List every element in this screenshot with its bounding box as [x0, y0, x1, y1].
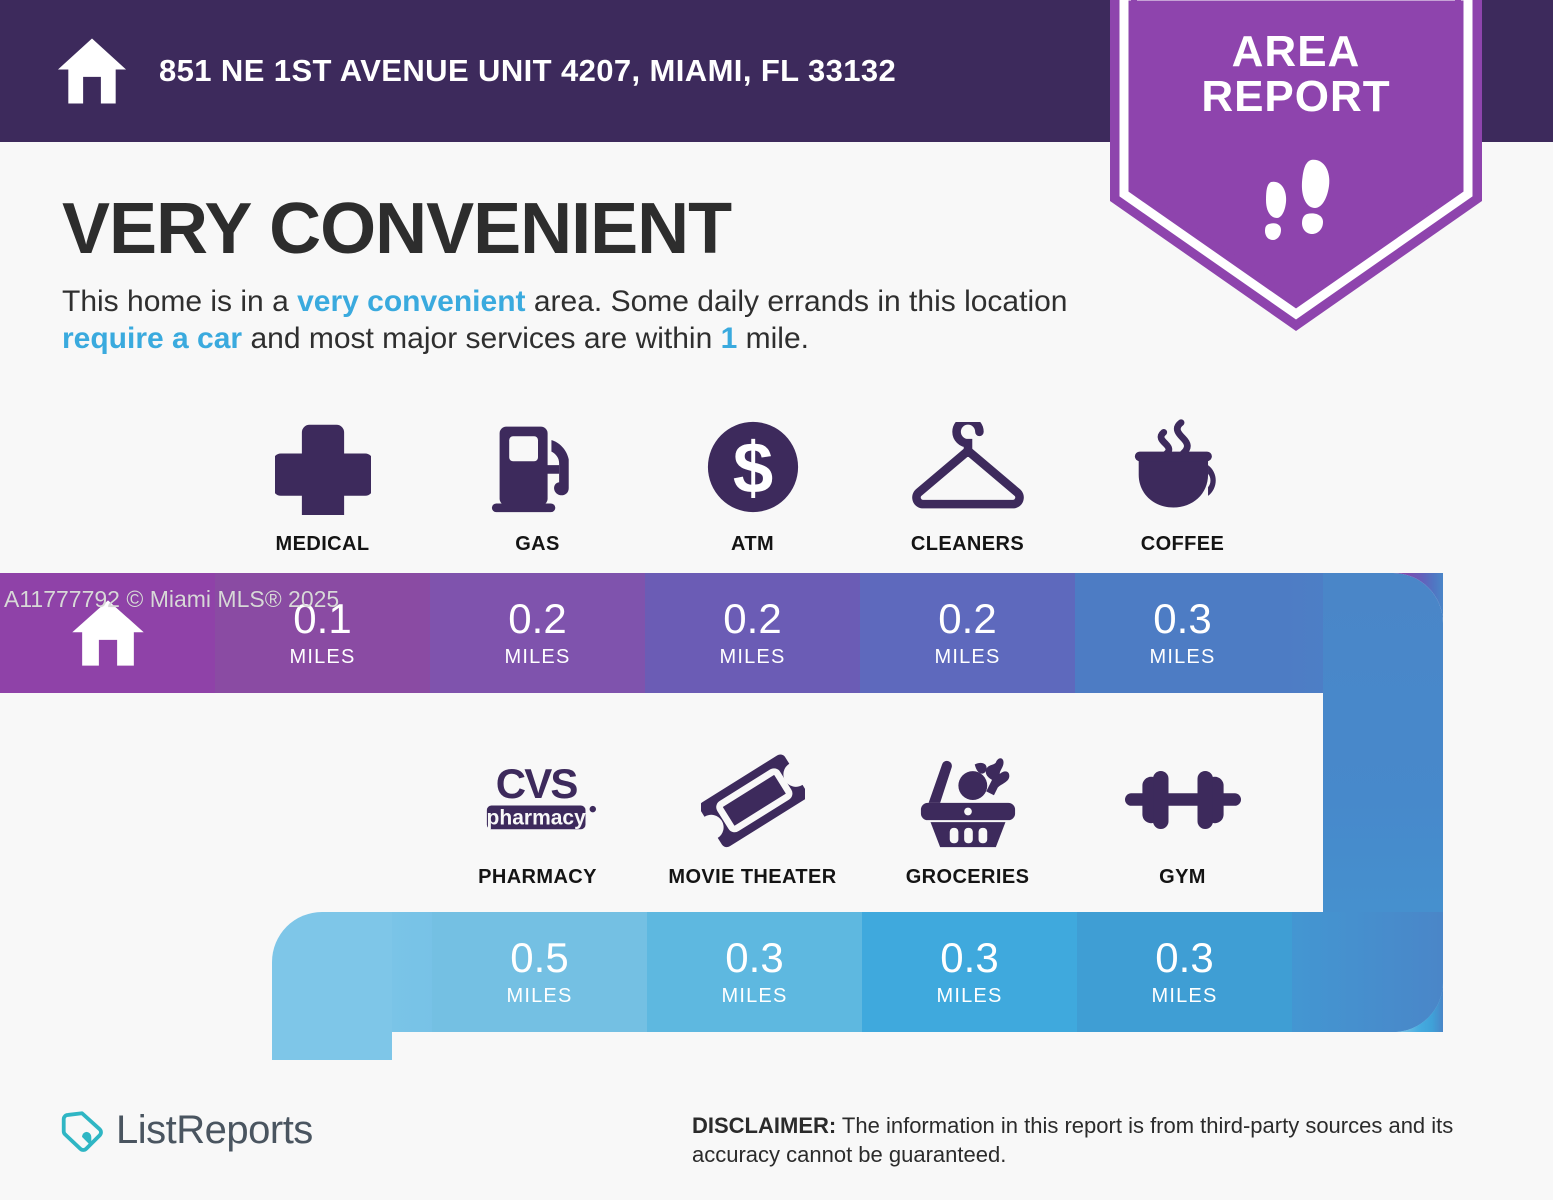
distance-value: 0.2 [508, 598, 566, 640]
atm-dollar-icon: $ [704, 415, 802, 519]
amenity-cleaners[interactable]: CLEANERS [860, 415, 1075, 556]
grocery-basket-icon [915, 748, 1021, 852]
distance-unit: MILES [506, 985, 572, 1008]
distance-value: 0.3 [725, 937, 783, 979]
svg-text:pharmacy: pharmacy [486, 807, 586, 830]
distance-value: 0.3 [1153, 598, 1211, 640]
amenity-gas[interactable]: GAS [430, 415, 645, 556]
amenity-groceries[interactable]: GROCERIES [860, 748, 1075, 889]
gas-pump-icon [488, 415, 588, 519]
distance-segment-groceries: 0.3 MILES [862, 912, 1077, 1032]
amenity-label: GAS [515, 533, 560, 556]
svg-text:$: $ [732, 427, 772, 508]
distance-unit: MILES [719, 646, 785, 669]
amenity-label: MEDICAL [276, 533, 370, 556]
movie-ticket-icon [701, 748, 805, 852]
summary-part-2: area. Some daily errands in this locatio… [526, 285, 1068, 318]
amenity-atm[interactable]: $ ATM [645, 415, 860, 556]
medical-cross-icon [275, 415, 371, 519]
hanger-icon [909, 415, 1027, 519]
mls-watermark: A11777792 © Miami MLS® 2025 [4, 586, 339, 613]
summary-highlight-3: 1 [721, 322, 738, 355]
summary-highlight-2: require a car [62, 322, 242, 355]
distance-value: 0.5 [510, 937, 568, 979]
summary-part-1: This home is in a [62, 285, 297, 318]
summary-part-3: and most major services are within [242, 322, 721, 355]
amenity-label: GYM [1159, 866, 1206, 889]
amenity-movie-theater[interactable]: MOVIE THEATER [645, 748, 860, 889]
cvs-pharmacy-logo: CVS pharmacy [474, 748, 602, 852]
amenity-label: COFFEE [1141, 533, 1225, 556]
distance-segment-gas: 0.2 MILES [430, 573, 645, 693]
amenity-label: PHARMACY [478, 866, 597, 889]
distance-value: 0.2 [938, 598, 996, 640]
distance-unit: MILES [1149, 646, 1215, 669]
summary-part-4: mile. [737, 322, 809, 355]
amenity-medical[interactable]: MEDICAL [215, 415, 430, 556]
area-report-page: 851 NE 1ST AVENUE UNIT 4207, MIAMI, FL 3… [0, 0, 1553, 1200]
listreports-wordmark: ListReports [116, 1108, 313, 1153]
distance-unit: MILES [504, 646, 570, 669]
distance-segment-coffee: 0.3 MILES [1075, 573, 1290, 693]
distance-unit: MILES [934, 646, 1000, 669]
distance-segment-cleaners: 0.2 MILES [860, 573, 1075, 693]
coffee-cup-icon [1131, 415, 1235, 519]
amenity-gym[interactable]: GYM [1075, 748, 1290, 889]
area-report-badge: AREA REPORT [1110, 0, 1482, 331]
distance-value: 0.2 [723, 598, 781, 640]
summary-highlight-1: very convenient [297, 285, 525, 318]
listreports-logo[interactable]: ListReports [60, 1108, 313, 1153]
amenity-pharmacy[interactable]: CVS pharmacy PHARMACY [430, 748, 645, 889]
amenity-label: GROCERIES [906, 866, 1030, 889]
distance-segment-gym: 0.3 MILES [1077, 912, 1292, 1032]
distance-value: 0.3 [1155, 937, 1213, 979]
amenity-label: MOVIE THEATER [668, 866, 836, 889]
amenity-label: CLEANERS [911, 533, 1024, 556]
distance-segment-atm: 0.2 MILES [645, 573, 860, 693]
amenity-icon-row-2: CVS pharmacy PHARMACY MOVIE THEATER [430, 748, 1290, 889]
distance-segment-movie-theater: 0.3 MILES [647, 912, 862, 1032]
distance-segment-pharmacy: 0.5 MILES [432, 912, 647, 1032]
svg-text:CVS: CVS [495, 760, 577, 807]
distance-unit: MILES [1151, 985, 1217, 1008]
amenity-icon-row-1: MEDICAL GAS $ ATM [215, 415, 1290, 556]
amenity-label: ATM [731, 533, 774, 556]
distance-unit: MILES [289, 646, 355, 669]
disclaimer: DISCLAIMER: The information in this repo… [692, 1112, 1502, 1169]
distance-unit: MILES [936, 985, 1002, 1008]
summary-text: This home is in a very convenient area. … [62, 283, 1102, 357]
dumbbell-icon [1125, 748, 1241, 852]
page-title: VERY CONVENIENT [62, 188, 731, 270]
listreports-house-tag-icon [60, 1109, 104, 1153]
amenity-coffee[interactable]: COFFEE [1075, 415, 1290, 556]
distance-value: 0.3 [940, 937, 998, 979]
distance-unit: MILES [721, 985, 787, 1008]
distance-bar-row-2: 0.5 MILES 0.3 MILES 0.3 MILES 0.3 MILES [432, 912, 1292, 1032]
property-address: 851 NE 1ST AVENUE UNIT 4207, MIAMI, FL 3… [159, 53, 896, 89]
footprints-icon [1255, 146, 1345, 246]
home-icon [55, 34, 129, 108]
disclaimer-label: DISCLAIMER: [692, 1113, 836, 1138]
